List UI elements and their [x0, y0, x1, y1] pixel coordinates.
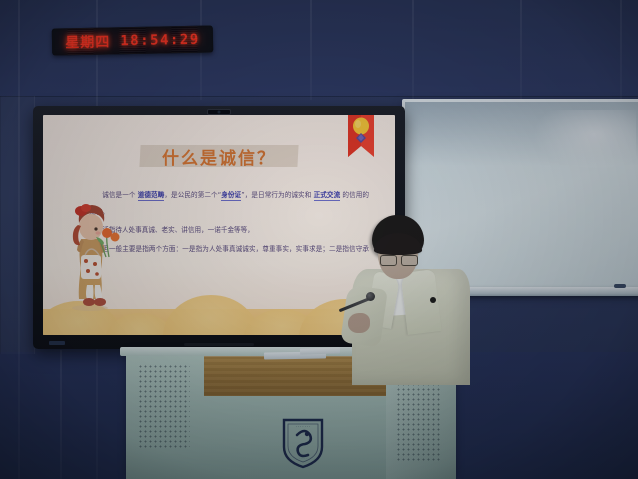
slide-title: 什么是诚信？	[162, 149, 276, 169]
wall-seam	[620, 0, 622, 100]
bezel-logo-strip	[184, 343, 254, 346]
svg-text:· · · · ·: · · · · ·	[299, 456, 308, 460]
wall-seam	[310, 0, 312, 100]
power-indicator-icon	[49, 341, 65, 345]
whiteboard-glare	[533, 110, 636, 170]
wall-seam	[412, 0, 414, 100]
wall-panel	[0, 96, 35, 354]
keyword-morality: 道德范畴	[138, 191, 165, 201]
speaker-grille-right	[396, 382, 442, 462]
title-highlight: 什么是诚信？	[140, 141, 298, 173]
slide-paragraph-2: 泛指待人处事真诚、老实、讲信用，一诺千金等等，	[89, 222, 369, 239]
clock-time: 18:54:29	[120, 31, 200, 49]
school-crest-icon: · · · · · · · · · · · ·	[281, 417, 325, 469]
para1-part3: ”，是日常行为的诚实和	[241, 191, 313, 199]
glasses-lens-right	[401, 255, 418, 266]
clock-weekday: 星期四	[65, 31, 110, 52]
glasses-lens-left	[380, 255, 397, 266]
classroom-scene: 星期四 18:54:29	[0, 0, 638, 479]
jacket-button	[430, 297, 436, 303]
slide-paragraph-1: 诚信是一个 道德范畴，是公民的第二个“身份证”，是日常行为的诚实和 正式交流 的…	[89, 187, 369, 220]
slide-paragraph-3: 但一般主要是指两个方面：一是指为人处事真诚诚实，尊重事实，实事求是；二是指信守承…	[89, 241, 369, 274]
keyword-formal-exchange: 正式交流	[314, 191, 341, 201]
girl-illustration-icon	[65, 195, 123, 311]
para1-part2: ，是公民的第二个“	[164, 191, 221, 199]
speaker-person	[352, 215, 470, 385]
slide-body: 诚信是一个 道德范畴，是公民的第二个“身份证”，是日常行为的诚实和 正式交流 的…	[89, 187, 369, 276]
microphone-icon[interactable]	[338, 283, 378, 323]
slide-title-container: 什么是诚信？	[43, 141, 395, 173]
microphone-head	[366, 292, 375, 301]
wall-seam	[520, 0, 522, 100]
marker-icon[interactable]	[614, 284, 626, 288]
keyword-id-card: 身份证	[221, 191, 241, 201]
led-clock: 星期四 18:54:29	[52, 25, 213, 55]
speaker-grille-left	[138, 364, 190, 448]
wall-seam	[60, 350, 62, 479]
svg-text:· · · · · · ·: · · · · · · ·	[296, 425, 311, 429]
glasses-icon	[380, 255, 418, 264]
